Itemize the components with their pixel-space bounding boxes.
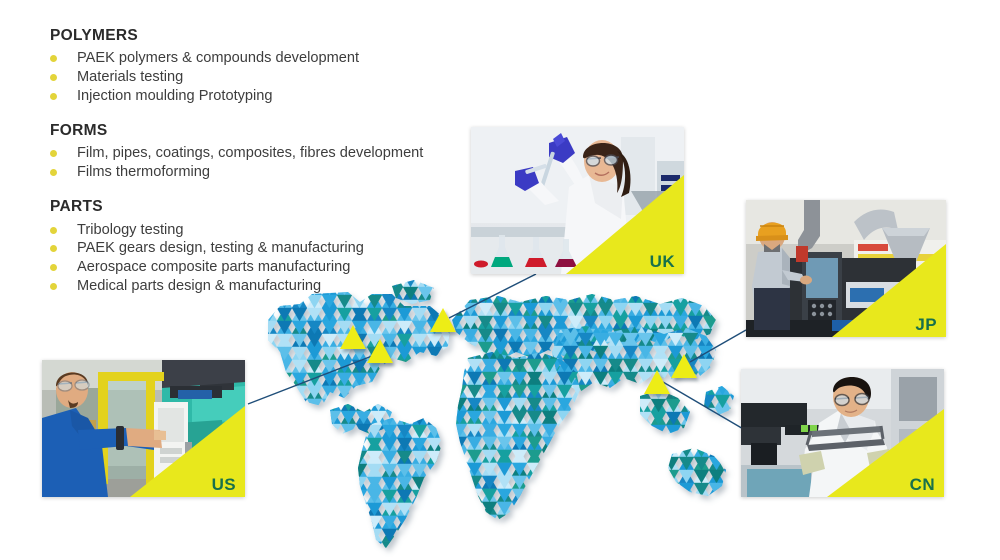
map-tile: [583, 368, 598, 381]
map-tile: [427, 321, 442, 334]
map-tile: [457, 425, 472, 438]
map-tile: [307, 295, 322, 308]
map-tile: [653, 346, 668, 359]
map-tile: [493, 368, 508, 381]
map-tile: [679, 470, 694, 483]
location-card-uk[interactable]: UK: [471, 127, 684, 274]
map-tile: [307, 347, 322, 360]
map-tile: [668, 424, 683, 437]
map-tile: [623, 411, 638, 424]
map-region-asia: [548, 320, 743, 437]
map-tile: [679, 522, 694, 535]
map-tile: [337, 321, 352, 334]
map-tile: [277, 347, 292, 360]
map-tile: [452, 411, 467, 424]
bullet-icon: [50, 245, 57, 252]
map-tile: [457, 516, 472, 529]
map-tile: [322, 295, 337, 308]
map-tile: [527, 346, 542, 359]
location-marker-jp[interactable]: [671, 354, 697, 378]
map-tile: [497, 450, 512, 463]
map-tile: [478, 290, 493, 303]
map-tile: [538, 329, 553, 342]
map-tile: [658, 355, 673, 368]
map-tile: [572, 489, 587, 502]
map-tile: [698, 372, 713, 385]
map-tile: [713, 398, 728, 411]
map-tile: [457, 373, 472, 386]
map-tile: [527, 398, 542, 411]
map-tile: [367, 425, 382, 438]
map-tile: [527, 437, 542, 450]
map-tile: [512, 541, 527, 554]
map-tile: [371, 463, 386, 476]
map-tile: [523, 355, 538, 368]
map-tile: [553, 290, 568, 303]
map-tile: [683, 346, 698, 359]
map-tile: [538, 290, 553, 303]
map-tile: [367, 412, 382, 425]
map-tile: [563, 359, 578, 372]
map-tile: [412, 295, 427, 308]
map-tile: [322, 321, 337, 334]
location-marker-cn[interactable]: [644, 370, 670, 394]
map-tile: [572, 437, 587, 450]
map-tile: [397, 373, 412, 386]
map-tile: [715, 395, 730, 408]
map-tile: [694, 483, 709, 496]
map-tile: [397, 425, 412, 438]
bullet-icon: [50, 227, 57, 234]
location-marker-extra-0[interactable]: [340, 325, 366, 349]
map-tile: [457, 399, 472, 412]
map-tile: [587, 424, 602, 437]
map-tile: [638, 372, 653, 385]
map-tile: [653, 333, 668, 346]
map-tile: [371, 411, 386, 424]
map-tile: [673, 355, 688, 368]
map-tile: [463, 303, 478, 316]
map-tile: [658, 290, 673, 303]
map-tile: [427, 347, 442, 360]
map-tile: [653, 424, 668, 437]
map-tile: [578, 398, 593, 411]
map-tile: [467, 515, 482, 528]
map-tile: [457, 477, 472, 490]
map-tile: [322, 334, 337, 347]
map-tile: [598, 290, 613, 303]
map-tile: [356, 450, 371, 463]
map-tile: [457, 425, 472, 438]
map-tile: [698, 359, 713, 372]
map-tile: [463, 368, 478, 381]
map-tile: [292, 412, 307, 425]
map-tile: [651, 451, 666, 464]
map-tile: [563, 385, 578, 398]
map-tile: [452, 463, 467, 476]
map-tile: [623, 320, 638, 333]
location-marker-us[interactable]: [367, 339, 393, 363]
map-tile: [683, 333, 698, 346]
map-tile: [636, 438, 651, 451]
map-region-central-america: [326, 398, 416, 476]
map-tile: [482, 398, 497, 411]
map-tile: [482, 411, 497, 424]
map-tile: [307, 295, 322, 308]
map-tile: [666, 464, 681, 477]
map-tile: [598, 355, 613, 368]
map-tile: [638, 411, 653, 424]
map-tile: [572, 463, 587, 476]
map-tile: [523, 329, 538, 342]
map-tile: [542, 411, 557, 424]
map-tile: [698, 398, 713, 411]
list-item: Injection moulding Prototyping: [50, 87, 470, 105]
map-tile: [352, 490, 367, 503]
map-tile: [538, 290, 553, 303]
map-tile: [653, 346, 668, 359]
map-tile: [715, 447, 730, 460]
map-tile: [292, 438, 307, 451]
map-tile: [688, 316, 703, 329]
map-tile: [703, 316, 718, 329]
map-tile: [608, 333, 623, 346]
map-tile: [527, 463, 542, 476]
map-tile: [643, 303, 658, 316]
map-tile: [666, 438, 681, 451]
map-tile: [724, 522, 739, 535]
list-item: Tribology testing: [50, 221, 470, 239]
map-tile: [292, 412, 307, 425]
map-tile: [527, 489, 542, 502]
map-tile: [548, 398, 563, 411]
map-tile: [497, 515, 512, 528]
map-tile: [412, 425, 427, 438]
map-tile: [497, 528, 512, 541]
map-tile: [587, 385, 602, 398]
map-tile: [352, 529, 367, 542]
map-tile: [548, 346, 563, 359]
map-tile: [713, 346, 728, 359]
map-tile: [463, 303, 478, 316]
map-tile: [292, 308, 307, 321]
map-tile: [472, 425, 487, 438]
map-tile: [467, 489, 482, 502]
map-tile: [457, 451, 472, 464]
map-tile: [557, 489, 572, 502]
map-tile: [638, 346, 653, 359]
map-tile: [668, 320, 683, 333]
map-tile: [542, 515, 557, 528]
map-tile: [386, 424, 401, 437]
connector-lines: [248, 274, 746, 430]
map-tile: [412, 334, 427, 347]
map-tile: [623, 372, 638, 385]
map-tile: [724, 470, 739, 483]
map-tile: [679, 457, 694, 470]
map-tile: [613, 329, 628, 342]
map-tile: [739, 496, 754, 509]
map-tile: [322, 412, 337, 425]
map-tile: [452, 476, 467, 489]
map-tile: [694, 470, 709, 483]
map-tile: [367, 542, 382, 555]
map-tile: [433, 326, 448, 339]
map-tile: [713, 424, 728, 437]
map-tile: [679, 457, 694, 470]
map-tile: [352, 490, 367, 503]
map-tile: [709, 470, 724, 483]
map-tile: [608, 398, 623, 411]
map-tile: [557, 489, 572, 502]
map-tile: [482, 541, 497, 554]
map-tile: [683, 424, 698, 437]
map-tile: [583, 342, 598, 355]
map-tile: [262, 438, 277, 451]
map-tile: [673, 342, 688, 355]
map-tile: [277, 295, 292, 308]
map-tile: [583, 316, 598, 329]
map-tile: [412, 529, 427, 542]
map-tile: [628, 342, 643, 355]
map-tile: [292, 399, 307, 412]
map-tile: [482, 359, 497, 372]
map-tile: [651, 386, 666, 399]
map-tile: [382, 295, 397, 308]
map-tile: [679, 509, 694, 522]
map-tile: [352, 555, 367, 560]
map-tile: [427, 503, 442, 516]
map-tile: [703, 290, 718, 303]
map-tile: [382, 477, 397, 490]
map-tile: [593, 411, 608, 424]
map-tile: [497, 346, 512, 359]
map-tile: [386, 411, 401, 424]
map-tile: [568, 342, 583, 355]
map-tile: [668, 346, 683, 359]
map-tile: [713, 359, 728, 372]
map-tile: [688, 355, 703, 368]
map-tile: [386, 398, 401, 411]
map-tile: [668, 411, 683, 424]
map-tile: [388, 326, 403, 339]
map-tile: [703, 329, 718, 342]
map-tile: [688, 290, 703, 303]
map-tile: [696, 412, 711, 425]
map-tile: [452, 437, 467, 450]
map-tile: [709, 483, 724, 496]
map-tile: [548, 359, 563, 372]
map-tile: [523, 329, 538, 342]
map-tile: [542, 359, 557, 372]
map-tile: [593, 398, 608, 411]
map-tile: [352, 308, 367, 321]
map-tile: [512, 450, 527, 463]
map-tile: [572, 411, 587, 424]
map-tile: [568, 329, 583, 342]
map-tile: [587, 437, 602, 450]
map-tile: [548, 424, 563, 437]
map-tile: [262, 321, 277, 334]
map-tile: [442, 347, 457, 360]
map-tile: [397, 425, 412, 438]
map-tile: [382, 412, 397, 425]
map-tile: [598, 303, 613, 316]
location-card-us[interactable]: US: [42, 360, 245, 497]
map-tile: [397, 555, 412, 560]
map-tile: [367, 412, 382, 425]
map-tile: [608, 320, 623, 333]
map-tile: [512, 515, 527, 528]
map-tile: [553, 316, 568, 329]
map-tile: [709, 496, 724, 509]
map-tile: [696, 438, 711, 451]
country-badge-uk: UK: [650, 253, 675, 270]
map-tile: [673, 303, 688, 316]
list-item: PAEK gears design, testing & manufacturi…: [50, 239, 470, 257]
map-tile: [583, 303, 598, 316]
map-tile: [587, 489, 602, 502]
map-tile: [277, 399, 292, 412]
map-tile: [457, 399, 472, 412]
map-tile: [593, 372, 608, 385]
map-tile: [326, 411, 341, 424]
map-tile: [427, 477, 442, 490]
map-tile: [568, 355, 583, 368]
map-tile: [427, 555, 442, 560]
map-tile: [493, 316, 508, 329]
map-tile: [262, 295, 277, 308]
map-tile: [442, 308, 457, 321]
map-tile: [557, 541, 572, 554]
map-tile: [427, 321, 442, 334]
map-tile: [497, 411, 512, 424]
map-tile: [442, 438, 457, 451]
location-card-jp[interactable]: JP: [746, 200, 946, 337]
map-tile: [326, 463, 341, 476]
map-tile: [442, 490, 457, 503]
map-tile: [482, 502, 497, 515]
map-tile: [512, 541, 527, 554]
map-tile: [371, 463, 386, 476]
location-card-cn[interactable]: CN: [741, 369, 944, 497]
map-tile: [427, 464, 442, 477]
map-tile: [724, 444, 739, 457]
map-tile: [356, 411, 371, 424]
map-tile: [292, 373, 307, 386]
map-tile: [467, 528, 482, 541]
map-tile: [643, 368, 658, 381]
map-tile: [497, 541, 512, 554]
map-tile: [397, 529, 412, 542]
map-tile: [292, 334, 307, 347]
map-tile: [700, 395, 715, 408]
map-tile: [467, 411, 482, 424]
map-tile: [412, 555, 427, 560]
map-tile: [452, 346, 467, 359]
map-tile: [512, 424, 527, 437]
map-tile: [427, 412, 442, 425]
map-tile: [401, 463, 416, 476]
map-tile: [583, 329, 598, 342]
map-tile: [367, 373, 382, 386]
map-tile: [664, 509, 679, 522]
map-tile: [628, 290, 643, 303]
map-tile: [352, 516, 367, 529]
map-tile: [307, 334, 322, 347]
map-tile: [442, 360, 457, 373]
map-tile: [548, 372, 563, 385]
map-tile: [696, 464, 711, 477]
map-tile: [262, 360, 277, 373]
map-tile: [442, 516, 457, 529]
map-tile: [696, 425, 711, 438]
map-tile: [683, 333, 698, 346]
map-tile: [696, 412, 711, 425]
map-tile: [427, 438, 442, 451]
map-tile: [326, 450, 341, 463]
map-tile: [442, 425, 457, 438]
map-tile: [728, 320, 743, 333]
map-tile: [572, 359, 587, 372]
map-tile: [401, 398, 416, 411]
map-tile: [696, 386, 711, 399]
map-tile: [382, 451, 397, 464]
map-tile: [412, 529, 427, 542]
map-tile: [628, 329, 643, 342]
location-marker-uk[interactable]: [430, 308, 456, 332]
map-tile: [452, 541, 467, 554]
capability-group-forms: FORMS Film, pipes, coatings, composites,…: [50, 121, 470, 181]
map-tile: [322, 321, 337, 334]
map-tile: [367, 386, 382, 399]
map-tile: [512, 463, 527, 476]
map-tile: [638, 320, 653, 333]
map-tile: [508, 342, 523, 355]
map-tile: [442, 542, 457, 555]
map-tile: [557, 385, 572, 398]
map-tile: [337, 347, 352, 360]
map-tile: [713, 346, 728, 359]
map-tile: [694, 509, 709, 522]
map-tile: [713, 320, 728, 333]
map-tile: [724, 457, 739, 470]
map-tile: [472, 373, 487, 386]
map-tile: [382, 321, 397, 334]
map-tile: [698, 385, 713, 398]
map-tile: [467, 450, 482, 463]
map-tile: [482, 450, 497, 463]
map-tile: [538, 329, 553, 342]
map-tile: [587, 411, 602, 424]
map-tile: [608, 411, 623, 424]
map-tile: [668, 385, 683, 398]
map-tile: [623, 424, 638, 437]
map-tile: [527, 463, 542, 476]
map-tile: [412, 425, 427, 438]
map-tile: [718, 316, 733, 329]
map-tile: [322, 360, 337, 373]
map-tile: [262, 386, 277, 399]
map-tile: [643, 316, 658, 329]
map-tile: [478, 355, 493, 368]
map-tile: [442, 542, 457, 555]
map-tile: [508, 303, 523, 316]
map-tile: [337, 295, 352, 308]
map-tile: [681, 451, 696, 464]
map-tile: [668, 372, 683, 385]
map-tile: [352, 373, 367, 386]
